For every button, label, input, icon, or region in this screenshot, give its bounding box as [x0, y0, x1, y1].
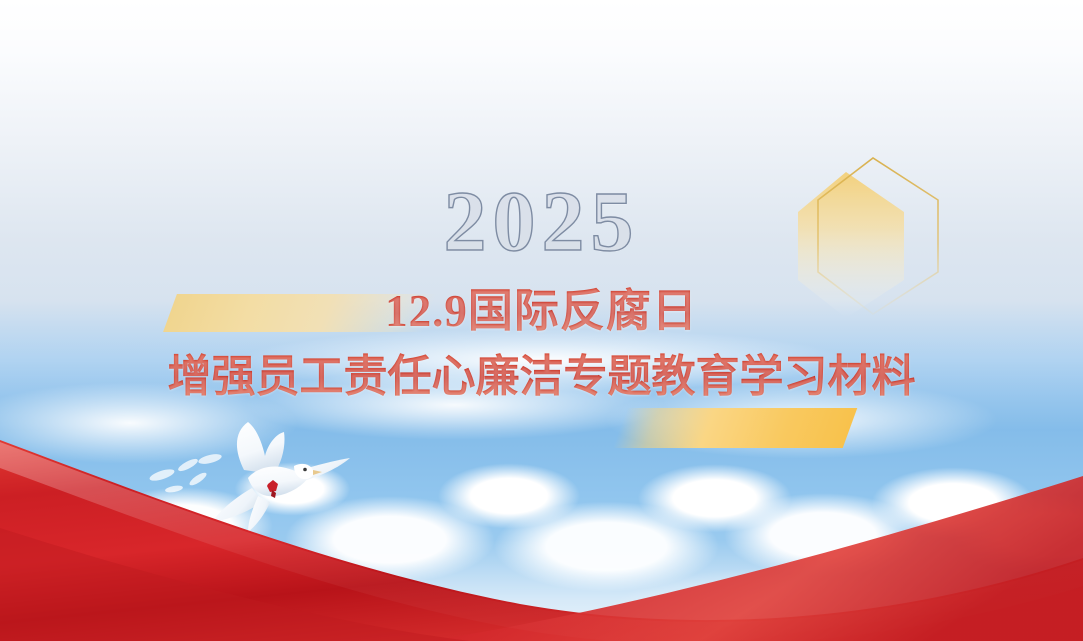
poster-canvas: 2025 12.9国际反腐日 增强员工责任心廉洁专题教育学习材料	[0, 0, 1083, 641]
year-label: 2025	[0, 178, 1083, 264]
page-title: 12.9国际反腐日	[0, 286, 1083, 336]
red-silk-ribbon	[0, 380, 1083, 641]
